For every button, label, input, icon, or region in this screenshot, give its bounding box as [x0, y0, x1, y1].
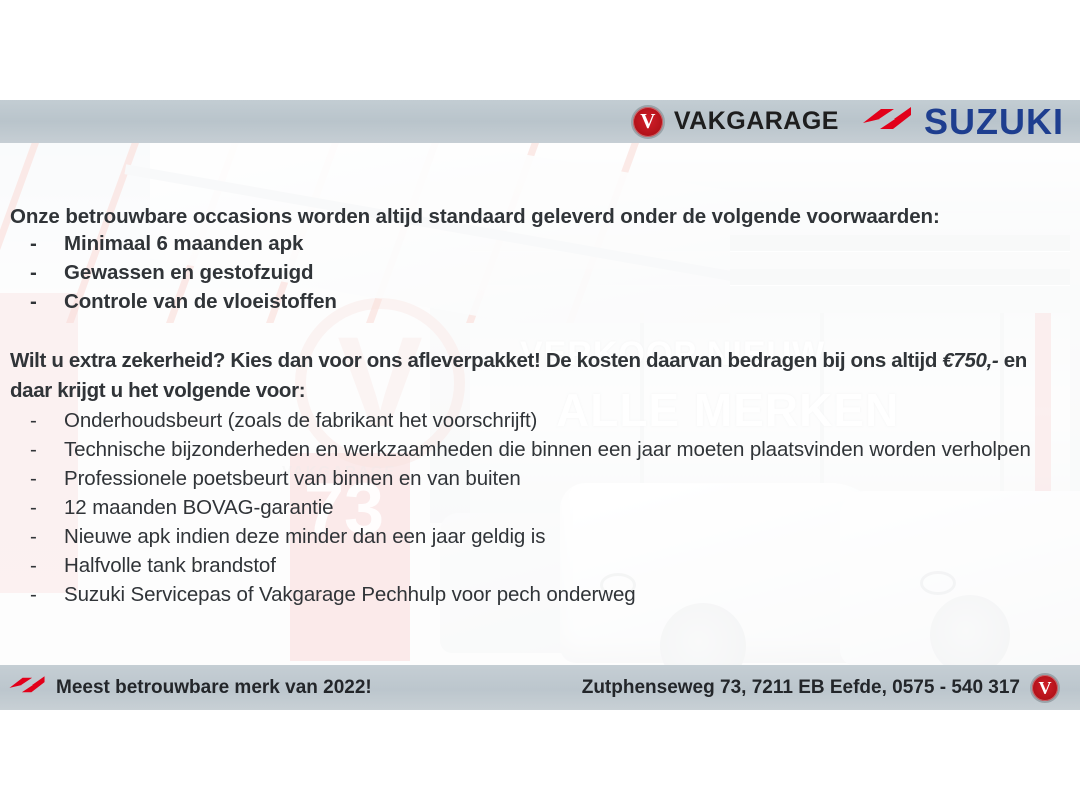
- list-item-label: Professionele poetsbeurt van binnen en v…: [64, 467, 521, 490]
- vakgarage-v-icon: V: [631, 105, 665, 139]
- list-item: - Minimaal 6 maanden apk: [0, 229, 1080, 258]
- list-item: - 12 maanden BOVAG-garantie: [0, 493, 1080, 522]
- list-item: - Suzuki Servicepas of Vakgarage Pechhul…: [0, 580, 1080, 609]
- advertisement-slide: VERKOOP NIEUW ALLE MERKEN 73 V VAKGARAGE…: [0, 0, 1080, 810]
- list-item: - Gewassen en gestofzuigd: [0, 258, 1080, 287]
- list-item-label: Halfvolle tank brandstof: [64, 554, 276, 577]
- list-item: - Halfvolle tank brandstof: [0, 551, 1080, 580]
- offer-copy: Onze betrouwbare occasions worden altijd…: [0, 143, 1080, 609]
- header-brand-bar: V VAKGARAGE SUZUKI: [0, 100, 1080, 143]
- list-item-label: Minimaal 6 maanden apk: [64, 232, 303, 255]
- bullet-dash: -: [30, 435, 37, 464]
- list-item: - Onderhoudsbeurt (zoals de fabrikant he…: [0, 406, 1080, 435]
- list-item-label: Onderhoudsbeurt (zoals de fabrikant het …: [64, 409, 537, 432]
- lead-sentence: Onze betrouwbare occasions worden altijd…: [0, 143, 1080, 229]
- list-item-label: Suzuki Servicepas of Vakgarage Pechhulp …: [64, 583, 636, 606]
- list-item-label: 12 maanden BOVAG-garantie: [64, 496, 333, 519]
- list-item: - Nieuwe apk indien deze minder dan een …: [0, 522, 1080, 551]
- package-price: €750,-: [942, 349, 998, 372]
- vakgarage-wordmark: VAKGARAGE: [674, 107, 839, 136]
- list-item: - Controle van de vloeistoffen: [0, 287, 1080, 316]
- package-intro-paragraph: Wilt u extra zekerheid? Kies dan voor on…: [0, 316, 1080, 406]
- footer-address: Zutphenseweg 73, 7211 EB Eefde, 0575 - 5…: [582, 677, 1020, 699]
- bullet-dash: -: [30, 522, 37, 551]
- list-item-label: Technische bijzonderheden en werkzaamhed…: [64, 438, 1031, 461]
- list-item-label: Nieuwe apk indien deze minder dan een ja…: [64, 525, 545, 548]
- vakgarage-logo: V VAKGARAGE: [631, 105, 839, 139]
- vakgarage-v-glyph: V: [640, 111, 655, 132]
- list-item-label: Controle van de vloeistoffen: [64, 290, 337, 313]
- bullet-dash: -: [30, 258, 37, 287]
- suzuki-s-icon: [861, 101, 913, 142]
- vakgarage-v-icon: V: [1030, 673, 1060, 703]
- footer-address-group: Zutphenseweg 73, 7211 EB Eefde, 0575 - 5…: [582, 673, 1066, 703]
- suzuki-s-icon: [8, 671, 46, 704]
- footer-contact-bar: Meest betrouwbare merk van 2022! Zutphen…: [0, 665, 1080, 710]
- brand-lockup-group: V VAKGARAGE SUZUKI: [631, 101, 1064, 143]
- vakgarage-v-glyph: V: [1039, 679, 1052, 697]
- footer-tagline-group: Meest betrouwbare merk van 2022!: [8, 671, 372, 704]
- suzuki-logo: SUZUKI: [861, 101, 1064, 143]
- list-item: - Professionele poetsbeurt van binnen en…: [0, 464, 1080, 493]
- standard-conditions-list: - Minimaal 6 maanden apk - Gewassen en g…: [0, 229, 1080, 316]
- bullet-dash: -: [30, 464, 37, 493]
- bullet-dash: -: [30, 580, 37, 609]
- bullet-dash: -: [30, 406, 37, 435]
- bullet-dash: -: [30, 551, 37, 580]
- bullet-dash: -: [30, 229, 37, 258]
- suzuki-wordmark: SUZUKI: [924, 101, 1064, 143]
- package-contents-list: - Onderhoudsbeurt (zoals de fabrikant he…: [0, 406, 1080, 609]
- footer-tagline: Meest betrouwbare merk van 2022!: [56, 677, 372, 699]
- list-item: - Technische bijzonderheden en werkzaamh…: [0, 435, 1080, 464]
- bullet-dash: -: [30, 493, 37, 522]
- package-intro-text-before: Wilt u extra zekerheid? Kies dan voor on…: [10, 349, 942, 372]
- list-item-label: Gewassen en gestofzuigd: [64, 261, 313, 284]
- bullet-dash: -: [30, 287, 37, 316]
